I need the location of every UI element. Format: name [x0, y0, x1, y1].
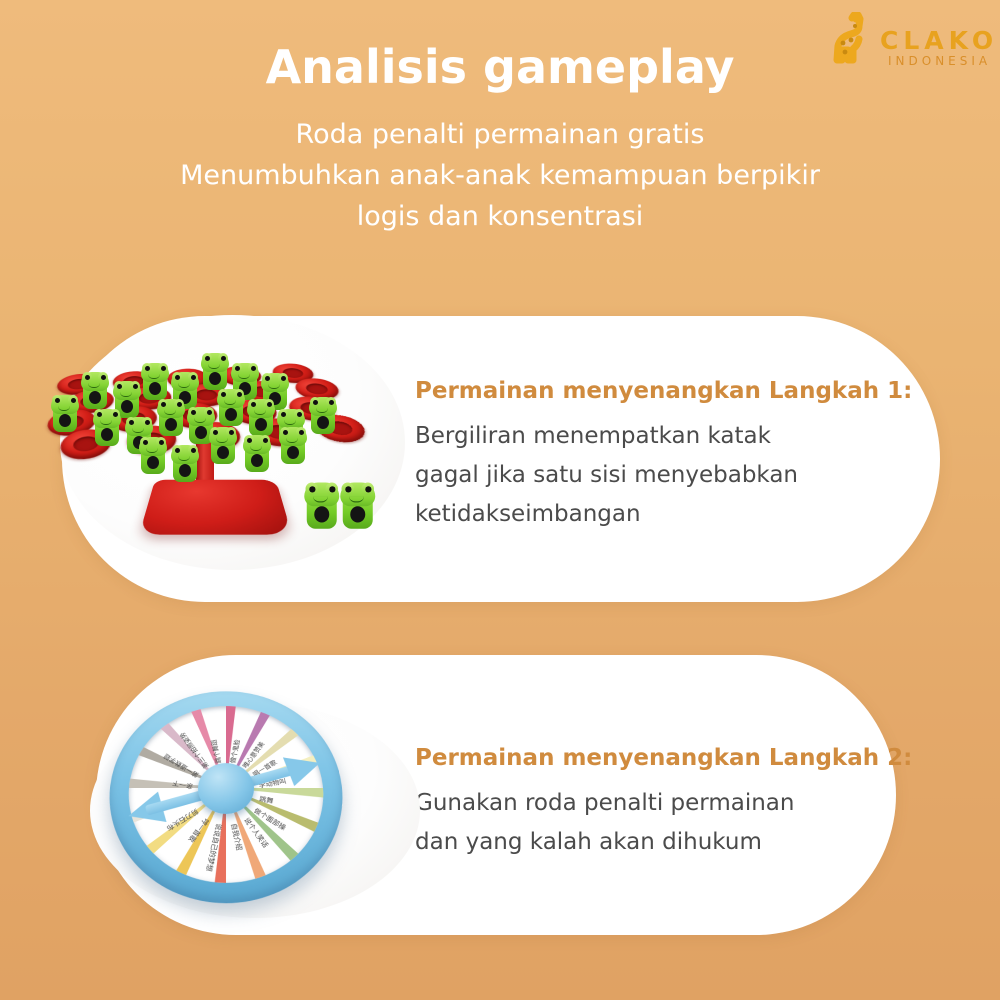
- logo-wordmark: CLAKOE: [880, 26, 1000, 55]
- frog-piece: [156, 397, 186, 437]
- frog-balance-tree-image: [20, 275, 410, 595]
- frog-piece: [208, 425, 238, 465]
- frog-piece: [140, 361, 170, 401]
- step-1-body-line: ketidakseimbangan: [415, 495, 912, 534]
- wheel-segment-label: 跳舞: [259, 794, 275, 806]
- giraffe-icon: [818, 12, 876, 70]
- spinner-wheel: 做个鬼脸唯心意赞美唱一首歌学动物叫跳舞做个面部操说个人笑话自我介绍说说自己的梦想…: [99, 691, 353, 903]
- subtitle-line: Menumbuhkan anak-anak kemampuan berpikir: [0, 155, 1000, 196]
- frog-piece: [50, 393, 80, 433]
- frog-piece: [242, 433, 272, 473]
- step-1-title: Permainan menyenangkan Langkah 1:: [415, 378, 912, 404]
- step-1-body-line: Bergiliran menempatkan katak: [415, 417, 912, 456]
- step-1-body-line: gagal jika satu sisi menyebabkan: [415, 456, 912, 495]
- frog-piece: [216, 387, 246, 427]
- wheel-segment-label: 跳个舞蹈: [210, 739, 225, 764]
- frog-piece: [170, 443, 200, 483]
- frog-piece: [278, 425, 308, 465]
- frog-piece: [200, 351, 230, 391]
- step-2-text: Permainan menyenangkan Langkah 2: Gunaka…: [415, 745, 912, 862]
- step-2-body-line: Gunakan roda penalti permainan: [415, 784, 912, 823]
- step-2-body-line: dan yang kalah akan dihukum: [415, 823, 912, 862]
- frog-piece: [339, 480, 377, 530]
- frog-piece: [138, 435, 168, 475]
- tree-base: [139, 480, 292, 535]
- frog-piece: [92, 407, 122, 447]
- loose-frog-pieces: [303, 490, 393, 540]
- wheel-hub: [197, 763, 254, 814]
- step-2-title: Permainan menyenangkan Langkah 2:: [415, 745, 912, 771]
- frog-piece: [308, 395, 338, 435]
- frog-piece: [303, 480, 341, 530]
- subtitle-line: Roda penalti permainan gratis: [0, 114, 1000, 155]
- page-subtitle: Roda penalti permainan gratis Menumbuhka…: [0, 114, 1000, 237]
- frog-piece: [80, 370, 110, 410]
- step-1-text: Permainan menyenangkan Langkah 1: Bergil…: [415, 378, 912, 534]
- frog-piece: [246, 397, 276, 437]
- subtitle-line: logis dan konsentrasi: [0, 196, 1000, 237]
- logo-sub-label: INDONESIA: [888, 54, 991, 68]
- penalty-spinner-wheel-image: 做个鬼脸唯心意赞美唱一首歌学动物叫跳舞做个面部操说个人笑话自我介绍说说自己的梦想…: [100, 668, 350, 918]
- brand-logo: CLAKOE INDONESIA: [818, 12, 984, 74]
